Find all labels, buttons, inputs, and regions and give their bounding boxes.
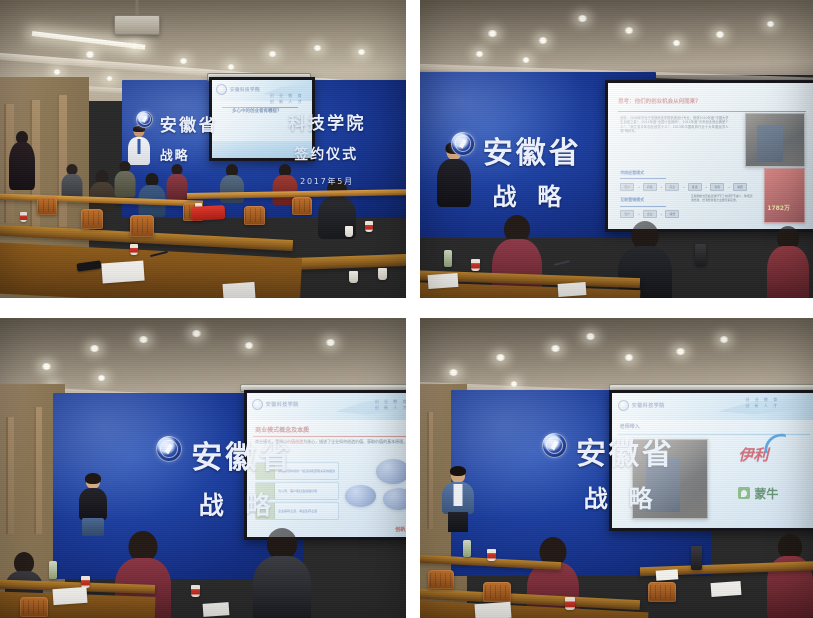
backdrop-line1: 安徽省 [576,429,675,473]
university-emblem-icon [156,436,182,462]
attendee [61,164,83,198]
mengniu-mark-icon [738,487,750,499]
bottle [463,540,471,557]
wall-panel [427,412,433,529]
bottle [444,250,452,267]
meeting-room-scene-2: 安徽省 战 略 思考：他们的创业机会从何而来？ 资料：2008年毕业于安徽科技学… [420,0,813,298]
ceiling-light [179,58,188,64]
slide-logo: 安徽科技学院 [252,399,299,410]
paper-cup [20,212,27,222]
slide-motto: 创 业 教 育创 新 人 才 [270,93,304,105]
backdrop-line1: 安徽省 [483,128,582,172]
pen [554,260,570,266]
flow-node: 农户 [620,183,634,191]
chair [483,582,511,602]
slide-logo-name: 安徽科技学院 [230,87,260,93]
bubble-diagram-node [345,485,376,507]
photo-top-left[interactable]: 安徽省 科技学院 战略 签约仪式 2017年5月 安徽科技学院 创 业 教 育创… [0,0,406,298]
slide-title: 思考：他们的创业机会从何而来？ [618,97,701,105]
wall-panel [6,417,14,534]
chair [20,597,48,617]
book-number: 1782万 [767,203,790,212]
thermos [695,244,706,266]
backdrop-line1: 安徽省 [160,111,218,136]
paper-cup [487,549,496,561]
attendee [166,164,188,198]
flow-arrow-icon: → [727,185,730,189]
slide-motto: 创 业 教 育创 新 人 才 [375,399,406,411]
slide-motto: 创 业 教 育创 新 人 才 [745,397,779,409]
chip-text: 为公司、客户和社会创造价值 [275,489,338,493]
desk-front [0,242,302,298]
ceiling-light [41,363,52,370]
flow-arrow-icon: → [705,185,708,189]
paper-cup [378,268,387,280]
paper-cup [565,597,575,610]
attendee [114,161,136,195]
flow-node: 批发 [688,183,702,191]
paper-document [710,581,741,597]
slide-section-1-label: 传统经营模式 [620,170,644,176]
ceiling-light [53,69,61,75]
presenter [77,474,109,532]
photo-top-right[interactable]: 安徽省 战 略 思考：他们的创业机会从何而来？ 资料：2008年毕业于安徽科技学… [420,0,813,298]
backdrop-date: 2017年5月 [300,176,354,187]
ceiling-light [487,30,498,37]
backdrop-line1: 安徽省 [191,432,293,477]
bubble-diagram-node [383,488,406,510]
backdrop-line1-tail: 科技学院 [288,109,366,134]
paper-cup [365,221,373,232]
slide-logo: 安徽科技学院 [216,84,260,95]
backdrop-line2: 战略 [160,145,190,164]
paper-document [427,273,458,289]
paper-cup [191,585,200,597]
flow-arrow-icon: → [682,185,685,189]
flow-node: 零售 [710,183,724,191]
meeting-room-scene-1: 安徽省 科技学院 战略 签约仪式 2017年5月 安徽科技学院 创 业 教 育创… [0,0,406,298]
backdrop-line2: 战 略 [493,177,568,212]
paper-cup [130,244,138,255]
paper-document [52,587,87,605]
yili-swoosh-icon [761,433,788,454]
ceiling-light [522,57,530,63]
paper-cup [345,226,353,237]
ceiling-light [313,45,322,51]
slide-body-suffix: 为核心，描述了企业如何创造价值、获取价值的基本原理。 [303,439,406,444]
ceiling-light [766,21,775,27]
meeting-room-scene-3: 安徽省 战 略 安徽科技学院 创 业 教 育创 新 人 才 商业模式概念及本质 … [0,318,406,618]
meeting-room-scene-4: 安徽省 战 略 安徽科技学院 创 业 教 育创 新 人 才 老师带入 伊利 [420,318,813,618]
chair [292,197,312,215]
slide: 思考：他们的创业机会从何而来？ 资料：2008年毕业于安徽科技学院机械设计专业，… [608,83,813,229]
ceiling-light [585,333,596,340]
book-cover: 1782万 [764,168,806,223]
chip-text: 企业赢利之道、商业生存之道 [275,509,338,513]
presenter [126,125,152,165]
slide-logo-icon [252,399,263,410]
wall-panel [57,95,67,227]
flow-node: 养企 [665,183,679,191]
slide-logo-name: 安徽科技学院 [632,402,665,409]
presenter [440,468,476,530]
paper-document [101,261,144,284]
flow-node: 企业 [643,210,657,218]
ceiling-light [550,345,561,352]
slide-logo: 安徽科技学院 [618,400,665,411]
flow-arrow-icon: → [660,212,663,216]
attendee [138,173,166,215]
ceiling-light [138,336,149,343]
chair [648,582,676,602]
photo-collage: 安徽省 科技学院 战略 签约仪式 2017年5月 安徽科技学院 创 业 教 育创… [0,0,813,618]
chair [428,570,454,589]
flow-diagram-2: 农户 → 企业 → 消费 [620,210,679,218]
ceiling-light [448,369,459,376]
flow-node: 农户 [620,210,634,218]
attendee [766,534,813,618]
backdrop-line2: 战 略 [584,479,659,514]
ceiling [420,0,813,75]
flow-node: 消费 [733,183,747,191]
red-bag [190,205,225,221]
slide-body-text: 资料：2008年毕业于安徽科技学院机械设计专业，曾获2010年度"中国大学生自强… [620,116,728,135]
bubble-diagram-node [376,459,406,483]
paper-document [557,282,586,297]
flow-arrow-icon: → [637,212,640,216]
attendee [252,528,312,618]
chair [244,206,265,225]
thermos [691,546,702,570]
backdrop-line2-tail: 签约仪式 [294,144,358,164]
flow-diagram-1: 农户 → 商贩 → 养企 → 批发 → 零售 → 消费 [620,183,747,191]
flow-arrow-icon: → [660,185,663,189]
ceiling-light [577,15,588,22]
chair [130,215,154,237]
paper-cup [349,271,358,283]
ceiling-light [244,342,254,349]
projector [114,15,160,35]
flow-node: 商贩 [643,183,657,191]
slide-footer: 创新点 [395,526,406,533]
paper-cup [471,259,480,271]
slide-logo-icon [618,400,629,411]
attendee [766,226,810,298]
slide-section-2-label: 互联营销模式 [620,197,644,203]
paper-document [223,282,256,298]
ceiling-light [719,336,729,343]
flow-node: 消费 [665,210,679,218]
paper-document [475,602,512,618]
ceiling-light [85,51,95,58]
ceiling-light [106,76,113,81]
university-emblem-icon [136,111,153,128]
ceiling-light [191,330,202,337]
mengniu-label: 蒙牛 [754,485,778,502]
paper-document [655,569,678,581]
ceiling-light [672,40,681,46]
wall-panel [34,407,42,533]
paper-document [203,602,230,617]
chair [37,197,57,215]
chair [81,209,103,229]
slide-logo-name: 安徽科技学院 [266,401,299,408]
backdrop-line2: 战 略 [199,486,277,522]
university-emblem-icon [542,433,567,458]
ceiling-light [268,51,277,57]
speaker-photo-inset [745,113,805,168]
mengniu-brand-logo: 蒙牛 [738,485,778,502]
photo-bottom-right[interactable]: 安徽省 战 略 安徽科技学院 创 业 教 育创 新 人 才 老师带入 伊利 [420,318,813,618]
flow-arrow-icon: → [637,185,640,189]
slide-note-text: 互联网模式压缩流通环节了中间环节减少，降低流通费用，给消费者和企业都带来实惠。 [691,194,753,202]
university-emblem-icon [451,132,475,156]
attendee [8,131,36,189]
projection-screen[interactable]: 思考：他们的创业机会从何而来？ 资料：2008年毕业于安徽科技学院机械设计专业，… [605,80,813,232]
ceiling-light [475,51,484,57]
attendee [89,170,115,210]
ceiling-light [325,339,336,346]
ceiling-light [495,354,506,361]
slide-title: 多心中的创业者有哪些？ [232,108,282,114]
bottle [49,561,57,579]
photo-bottom-left[interactable]: 安徽省 战 略 安徽科技学院 创 业 教 育创 新 人 才 商业模式概念及本质 … [0,318,406,618]
slide-logo-icon [216,84,227,95]
